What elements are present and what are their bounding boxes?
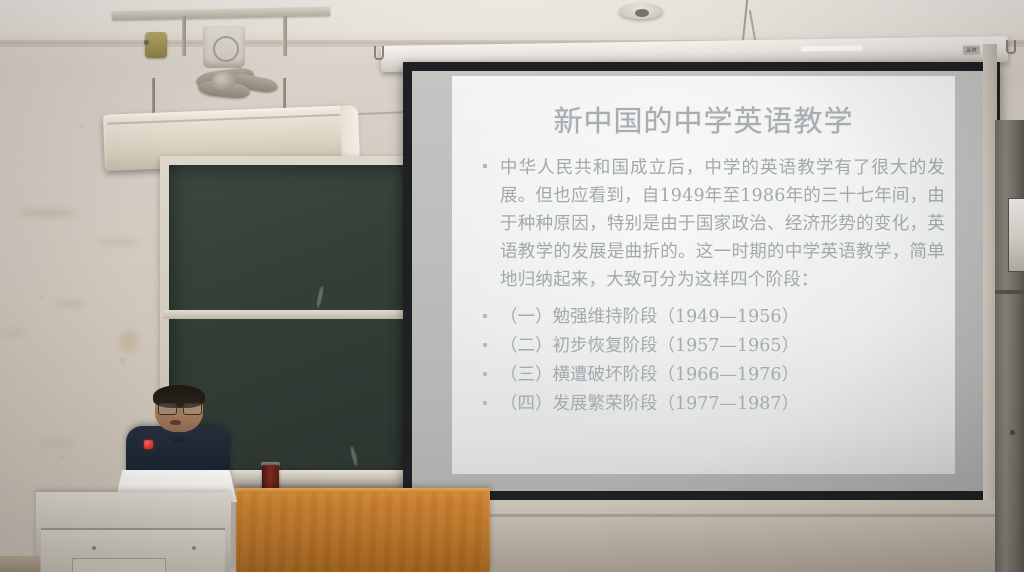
slide-phase-label: （一）勉强维持阶段（1949—1956） <box>500 303 945 331</box>
podium-screw <box>192 546 196 550</box>
fan-pipe <box>182 16 186 56</box>
desk-top-edge <box>236 488 490 493</box>
door-window-pane <box>1008 198 1024 272</box>
slide-phase-item: （二）初步恢复阶段（1957—1965） <box>466 332 945 360</box>
projected-slide: 新中国的中学英语教学 中华人民共和国成立后，中学的英语教学有了很大的发展。但也应… <box>452 76 955 474</box>
blackboard-divider <box>163 310 419 319</box>
slide-phase-item: （一）勉强维持阶段（1949—1956） <box>466 303 945 331</box>
glasses-lens <box>183 403 202 415</box>
light-screw <box>144 40 149 45</box>
slide-body: 中华人民共和国成立后，中学的英语教学有了很大的发展。但也应看到，自1949年至1… <box>466 154 945 418</box>
bullet-icon <box>483 401 487 405</box>
wall-stain <box>0 330 26 336</box>
slide-phase-label: （三）横遭破坏阶段（1966—1976） <box>500 361 945 389</box>
wall-stain <box>18 208 78 218</box>
lower-wall <box>490 500 995 572</box>
slide-phase-item: （三）横遭破坏阶段（1966—1976） <box>466 361 945 389</box>
fan-hub <box>212 72 236 90</box>
slide-title: 新中国的中学英语教学 <box>452 98 955 140</box>
door-frame <box>995 120 1024 572</box>
smoke-detector-icon <box>619 3 663 19</box>
classroom-photo-scene: 品牌 新中国的中学英语教学 中华人民共和国成立后，中学的英语教学有了很大的发展。… <box>0 0 1024 572</box>
door-rail <box>995 290 1024 294</box>
glasses-icon <box>157 403 201 413</box>
wall-stain <box>120 330 138 352</box>
light-end-cap <box>340 105 360 162</box>
door-knob-icon[interactable] <box>1010 430 1015 435</box>
wall-stain <box>40 440 74 446</box>
bullet-icon <box>483 314 487 318</box>
baseboard-line <box>490 514 995 517</box>
slide-phase-label: （四）发展繁荣阶段（1977—1987） <box>500 390 945 418</box>
podium-lower-panel <box>72 558 166 572</box>
wall-stain <box>54 300 84 307</box>
screen-hook <box>1006 40 1016 54</box>
slide-phase-item: （四）发展繁荣阶段（1977—1987） <box>466 390 945 418</box>
glasses-lens <box>158 403 177 415</box>
housing-sticker <box>801 45 863 51</box>
bullet-icon <box>483 164 487 168</box>
lapel-badge-icon <box>144 440 153 449</box>
bullet-icon <box>483 372 487 376</box>
glasses-bridge <box>175 407 183 408</box>
podium-screw <box>92 546 96 550</box>
bullet-icon <box>483 343 487 347</box>
floor-strip <box>0 556 40 572</box>
housing-brand-label: 品牌 <box>963 46 980 55</box>
presenter-mouth <box>170 420 181 425</box>
fan-clamp <box>145 32 167 58</box>
fan-pipe <box>283 16 287 56</box>
slide-paragraph-text: 中华人民共和国成立后，中学的英语教学有了很大的发展。但也应看到，自1949年至1… <box>500 154 945 294</box>
wall-stain <box>96 238 140 246</box>
light-hanger-rod <box>152 78 155 114</box>
wooden-desk <box>236 488 490 572</box>
slide-paragraph: 中华人民共和国成立后，中学的英语教学有了很大的发展。但也应看到，自1949年至1… <box>466 154 945 294</box>
ceiling-fan-icon <box>203 26 245 68</box>
screen-hook <box>374 46 384 60</box>
slide-phase-label: （二）初步恢复阶段（1957—1965） <box>500 332 945 360</box>
desk-wood-grain <box>236 488 490 572</box>
